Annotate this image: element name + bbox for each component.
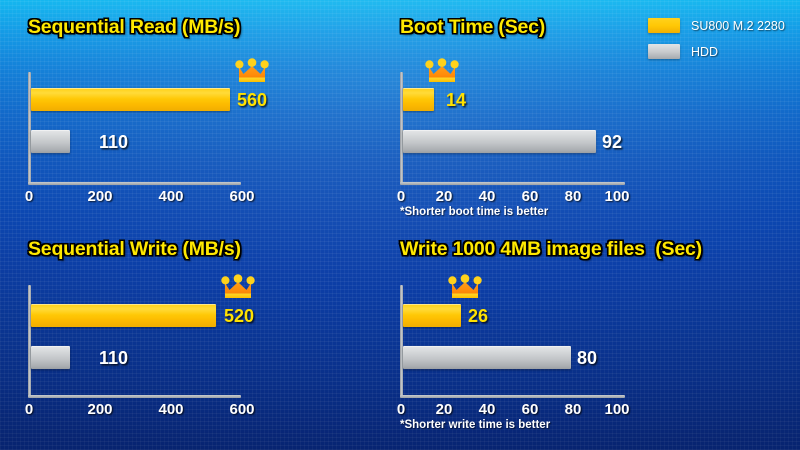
chart-write-1000-images: Write 1000 4MB image files (Sec) 26 bbox=[395, 225, 800, 450]
bar-value-hdd: 110 bbox=[99, 132, 128, 153]
chart-boot-time: Boot Time (Sec) 14 bbox=[395, 0, 800, 225]
crown-icon bbox=[448, 274, 482, 300]
chart-title-boot-time: Boot Time (Sec) bbox=[400, 16, 545, 39]
x-tick-2: 40 bbox=[479, 401, 496, 418]
chart-footnote: *Shorter write time is better bbox=[400, 419, 550, 431]
x-tick-2: 400 bbox=[158, 188, 183, 205]
benchmark-infographic: SU800 M.2 2280 HDD Sequential Read (MB/s… bbox=[0, 0, 800, 450]
chart-footnote: *Shorter boot time is better bbox=[400, 206, 548, 218]
bar-value-ssd: 14 bbox=[446, 90, 466, 111]
chart-sequential-read: Sequential Read (MB/s) 560 bbox=[0, 0, 400, 225]
y-axis-line bbox=[28, 285, 31, 397]
bar-value-hdd: 80 bbox=[577, 348, 597, 369]
x-axis-line bbox=[400, 395, 625, 398]
x-tick-0: 0 bbox=[397, 401, 405, 418]
bar-ssd bbox=[403, 304, 461, 327]
x-tick-2: 40 bbox=[479, 188, 496, 205]
bar-value-ssd: 560 bbox=[237, 90, 267, 111]
bar-value-ssd: 520 bbox=[224, 306, 254, 327]
bar-value-hdd: 92 bbox=[602, 132, 622, 153]
bar-hdd bbox=[403, 346, 571, 369]
bar-hdd bbox=[31, 130, 70, 153]
chart-title-sequential-write: Sequential Write (MB/s) bbox=[28, 238, 241, 261]
crown-icon bbox=[235, 58, 269, 84]
x-tick-5: 100 bbox=[604, 188, 629, 205]
x-tick-3: 600 bbox=[229, 401, 254, 418]
x-axis-line bbox=[400, 182, 625, 185]
bar-ssd bbox=[31, 304, 216, 327]
crown-icon bbox=[221, 274, 255, 300]
bar-value-hdd: 110 bbox=[99, 348, 128, 369]
x-tick-0: 0 bbox=[25, 401, 33, 418]
bar-value-ssd: 26 bbox=[468, 306, 488, 327]
x-tick-5: 100 bbox=[604, 401, 629, 418]
chart-title-sequential-read: Sequential Read (MB/s) bbox=[28, 16, 240, 39]
x-tick-4: 80 bbox=[565, 188, 582, 205]
bar-ssd bbox=[31, 88, 230, 111]
x-tick-3: 60 bbox=[522, 188, 539, 205]
x-tick-2: 400 bbox=[158, 401, 183, 418]
y-axis-line bbox=[400, 285, 403, 397]
x-axis-line bbox=[28, 182, 241, 185]
x-tick-1: 200 bbox=[87, 188, 112, 205]
bar-ssd bbox=[403, 88, 434, 111]
crown-icon bbox=[425, 58, 459, 84]
x-tick-0: 0 bbox=[25, 188, 33, 205]
chart-sequential-write: Sequential Write (MB/s) 520 bbox=[0, 225, 400, 450]
bar-hdd bbox=[403, 130, 596, 153]
chart-title-write-1000-images: Write 1000 4MB image files (Sec) bbox=[400, 238, 702, 261]
x-tick-3: 600 bbox=[229, 188, 254, 205]
x-axis-line bbox=[28, 395, 241, 398]
x-tick-1: 200 bbox=[87, 401, 112, 418]
bar-hdd bbox=[31, 346, 70, 369]
x-tick-1: 20 bbox=[436, 188, 453, 205]
x-tick-0: 0 bbox=[397, 188, 405, 205]
x-tick-1: 20 bbox=[436, 401, 453, 418]
x-tick-3: 60 bbox=[522, 401, 539, 418]
x-tick-4: 80 bbox=[565, 401, 582, 418]
